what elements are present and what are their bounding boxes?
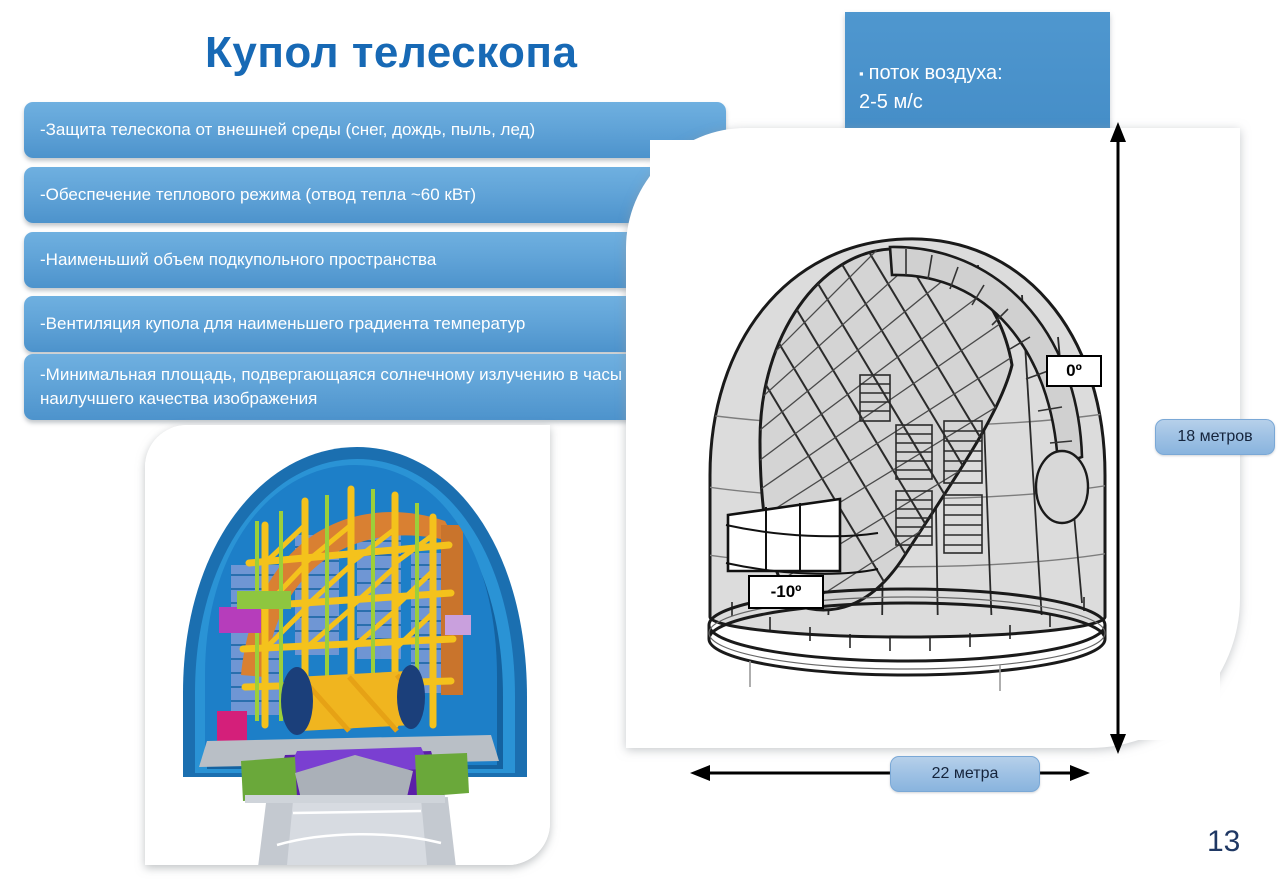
page-title: Купол телескопа xyxy=(205,28,577,78)
bullet-item-3: -Наименьший объем подкупольного простран… xyxy=(24,232,726,288)
height-dimension-label: 18 метров xyxy=(1155,419,1275,455)
bullet-item-1: -Защита телескопа от внешней среды (снег… xyxy=(24,102,726,158)
height-dimension-arrow xyxy=(1088,122,1148,754)
bullet-item-4-label: -Вентиляция купола для наименьшего гради… xyxy=(40,312,525,336)
bullet-item-2-label: -Обеспечение теплового режима (отвод теп… xyxy=(40,183,476,207)
slide-number: 13 xyxy=(1207,825,1240,859)
dome-angle-callout-minus-ten: -10º xyxy=(748,575,824,609)
bullet-item-5-label: -Минимальная площадь, подвергающаяся сол… xyxy=(40,363,710,411)
slide: Купол телескопа -Защита телескопа от вне… xyxy=(0,0,1280,886)
width-dimension-label: 22 метра xyxy=(890,756,1040,792)
telescope-dome-cad-cutaway xyxy=(145,425,550,865)
bullet-item-4: -Вентиляция купола для наименьшего гради… xyxy=(24,296,726,352)
bullet-item-3-label: -Наименьший объем подкупольного простран… xyxy=(40,248,436,272)
airflow-info-line-1-label: поток воздуха: 2-5 м/с xyxy=(859,62,1003,113)
bullet-item-2: -Обеспечение теплового режима (отвод теп… xyxy=(24,167,726,223)
bullet-item-1-label: -Защита телескопа от внешней среды (снег… xyxy=(40,118,535,142)
bullet-item-5: -Минимальная площадь, подвергающаяся сол… xyxy=(24,354,726,420)
square-bullet-icon: ▪ xyxy=(859,66,864,81)
telescope-dome-line-drawing xyxy=(700,225,1120,695)
airflow-info-line-1: ▪поток воздуха: 2-5 м/с xyxy=(859,30,1094,117)
